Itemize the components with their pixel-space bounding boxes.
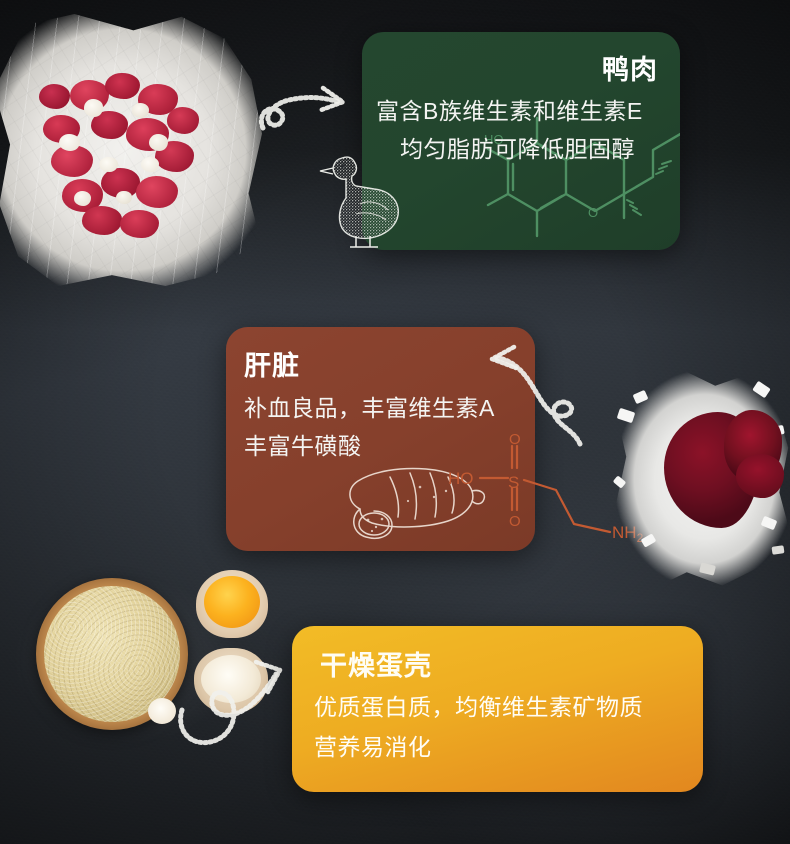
meat-pile bbox=[32, 58, 225, 248]
card-eggshell-line-1: 优质蛋白质，均衡维生素矿物质 bbox=[314, 688, 643, 722]
eggshell-half bbox=[194, 648, 268, 714]
card-eggshell-line-2: 营养易消化 bbox=[314, 728, 432, 762]
photo-eggshell-powder bbox=[36, 570, 286, 750]
card-duck-line-2: 均匀脂肪可降低胆固醇 bbox=[400, 130, 635, 164]
infographic-page: HO O 鸭肉 富含B族维生素和维生素E 均匀脂肪可降低胆固醇 bbox=[0, 0, 790, 844]
egg-yolk-half bbox=[196, 570, 268, 638]
ham-chalk-illustration bbox=[330, 447, 490, 547]
egg-yolk bbox=[204, 576, 260, 628]
card-duck[interactable]: HO O 鸭肉 富含B族维生素和维生素E 均匀脂肪可降低胆固醇 bbox=[362, 32, 680, 250]
shell-fragment bbox=[148, 698, 176, 724]
card-duck-title: 鸭肉 bbox=[602, 48, 658, 87]
photo-raw-liver bbox=[612, 368, 790, 590]
card-duck-line-1: 富含B族维生素和维生素E bbox=[376, 92, 643, 126]
card-liver-line-2: 丰富牛磺酸 bbox=[244, 427, 362, 461]
card-liver-line-1: 补血良品，丰富维生素A bbox=[244, 389, 495, 423]
card-eggshell[interactable]: 干燥蛋壳 优质蛋白质，均衡维生素矿物质 营养易消化 bbox=[292, 626, 703, 792]
card-liver-title: 肝脏 bbox=[244, 344, 300, 383]
liver-lobe-tip bbox=[736, 454, 784, 498]
photo-raw-duck-meat bbox=[0, 14, 262, 286]
eggshell-inner bbox=[201, 655, 261, 703]
card-liver[interactable]: 肝脏 补血良品，丰富维生素A 丰富牛磺酸 bbox=[226, 327, 535, 551]
card-eggshell-title: 干燥蛋壳 bbox=[320, 644, 432, 683]
molecule-label-o: O bbox=[588, 205, 598, 220]
